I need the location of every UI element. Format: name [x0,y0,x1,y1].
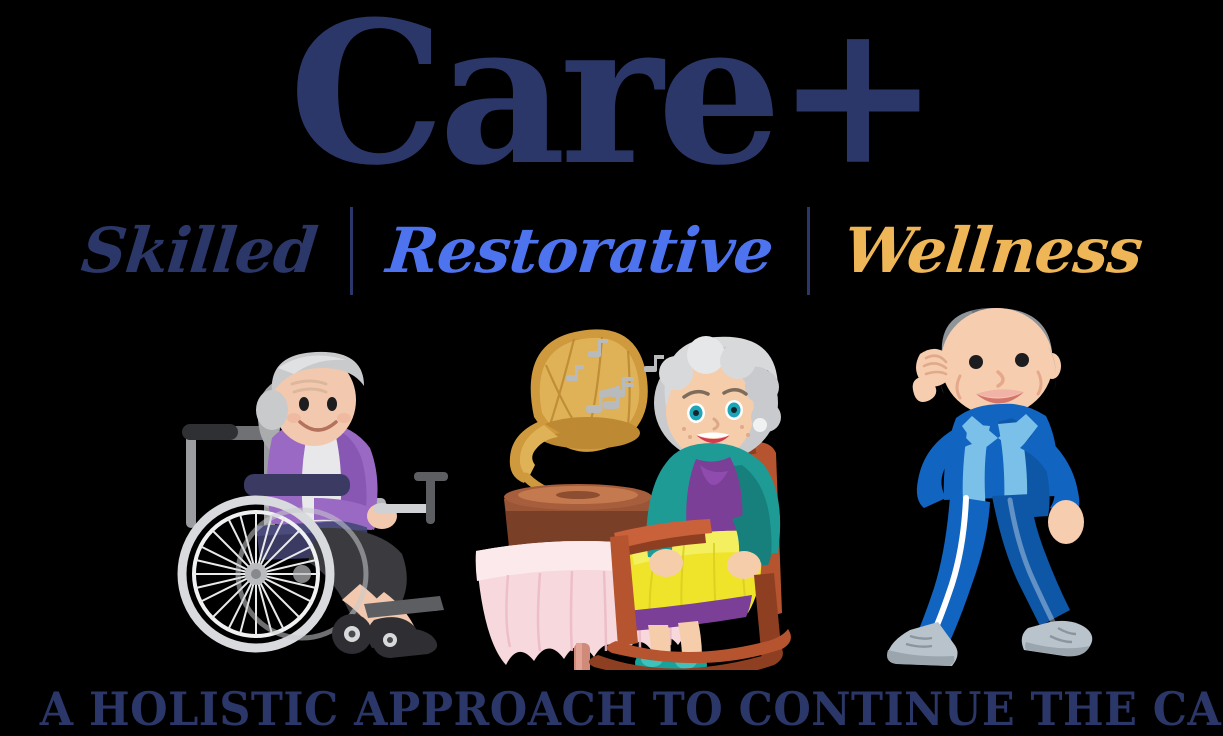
walking-man-illustration [880,300,1120,670]
pillar-restorative: Restorative [350,220,810,282]
logo-canvas: Care+ Skilled Restorative Wellness [0,0,1223,730]
gramophone-illustration [470,325,835,670]
illustration-band [0,300,1223,685]
tagline: A HOLISTIC APPROACH TO CONTINUE THE CARE… [40,686,1184,732]
pillar-wellness: Wellness [806,220,1178,282]
pillar-skilled: Skilled [45,220,354,282]
brand-wordmark: Care+ [0,0,1223,192]
pillar-row: Skilled Restorative Wellness [0,196,1223,306]
wheelchair-illustration [168,348,480,668]
